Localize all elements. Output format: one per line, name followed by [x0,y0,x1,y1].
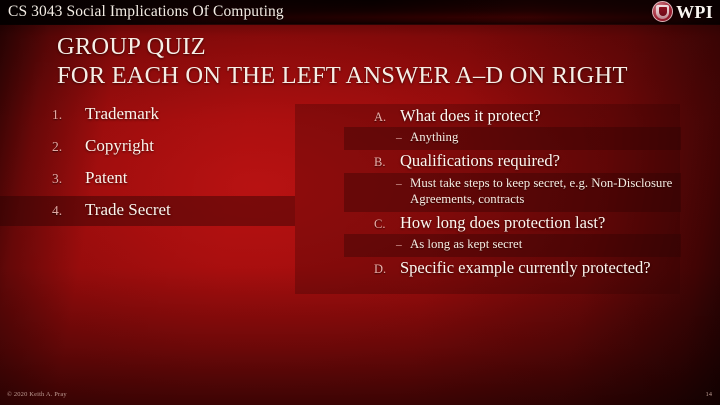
page-title-line-1: GROUP QUIZ [57,33,677,62]
answer-item-letter: B. [374,155,400,170]
answer-subitem-text: As long as kept secret [410,237,522,253]
list-item-number: 3. [52,171,85,187]
wpi-seal-icon [652,1,673,22]
list-item-label: Copyright [85,136,154,156]
list-item-label: Trademark [85,104,159,124]
page-title-line-2: FOR EACH ON THE LEFT ANSWER A–D ON RIGHT [57,62,677,91]
answer-item-letter: D. [374,262,400,277]
list-item-number: 4. [52,203,85,219]
answer-item[interactable]: D. Specific example currently protected? [374,256,674,280]
answer-subitem-text: Must take steps to keep secret, e.g. Non… [410,176,674,208]
answer-subitem: – Anything [396,128,674,149]
slide-canvas: CS 3043 Social Implications Of Computing… [0,0,720,405]
dash-bullet-icon: – [396,132,410,144]
dash-bullet-icon: – [396,178,410,190]
list-item[interactable]: 3. Patent [52,168,302,200]
answer-item-label: How long does protection last? [400,213,605,232]
answer-subitem-band [344,127,681,150]
answer-item-letter: A. [374,110,400,125]
answer-subitem: – As long as kept secret [396,235,674,256]
answer-item-label: Specific example currently protected? [400,258,651,277]
answer-item[interactable]: C. How long does protection last? [374,211,674,235]
list-item-number: 1. [52,107,85,123]
answer-item[interactable]: B. Qualifications required? [374,149,674,173]
answer-subitem-text: Anything [410,130,458,146]
answer-item[interactable]: A. What does it protect? [374,104,674,128]
dash-bullet-icon: – [396,239,410,251]
right-list: A. What does it protect? – Anything B. Q… [374,104,674,280]
wpi-wordmark: WPI [676,3,713,21]
left-list: 1. Trademark 2. Copyright 3. Patent 4. T… [52,104,302,232]
list-item-label: Trade Secret [85,200,171,220]
answer-subitem: – Must take steps to keep secret, e.g. N… [396,174,674,211]
answer-item-letter: C. [374,217,400,232]
copyright-notice: © 2020 Keith A. Pray [7,391,67,398]
page-title: GROUP QUIZ FOR EACH ON THE LEFT ANSWER A… [57,33,677,90]
list-item-number: 2. [52,139,85,155]
answer-item-label: Qualifications required? [400,151,560,170]
list-item[interactable]: 2. Copyright [52,136,302,168]
wpi-branding: WPI [652,1,713,22]
answer-item-label: What does it protect? [400,106,541,125]
list-item-highlighted[interactable]: 4. Trade Secret [52,200,302,232]
list-item-label: Patent [85,168,128,188]
course-title: CS 3043 Social Implications Of Computing [0,3,284,21]
list-item[interactable]: 1. Trademark [52,104,302,136]
slide-header-bar: CS 3043 Social Implications Of Computing… [0,0,720,25]
page-number: 14 [706,391,713,398]
